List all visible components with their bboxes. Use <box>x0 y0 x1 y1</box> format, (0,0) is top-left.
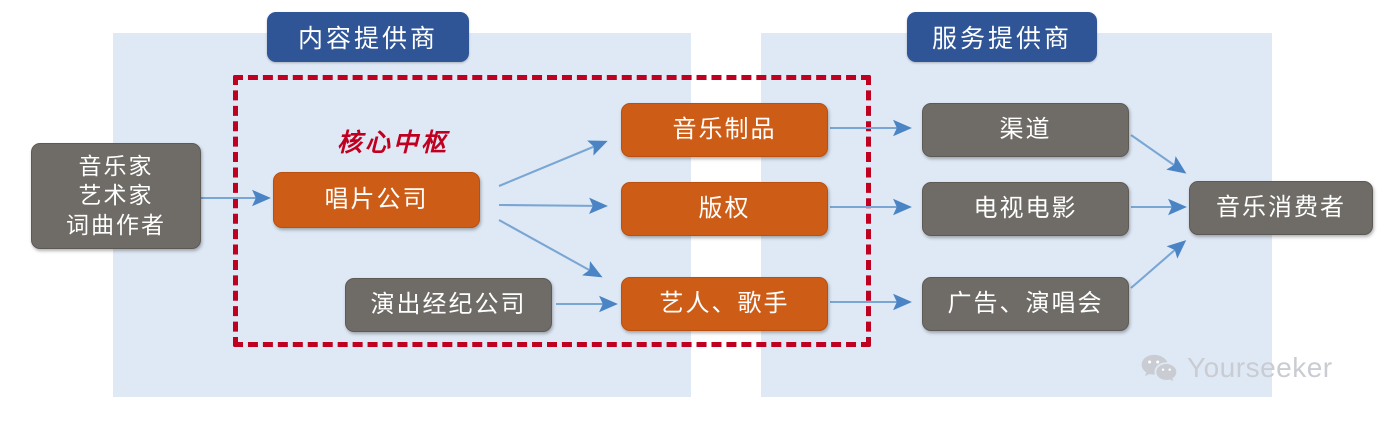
node-music-products-label: 音乐制品 <box>673 115 777 146</box>
header-service-provider: 服务提供商 <box>907 12 1097 62</box>
header-service-provider-label: 服务提供商 <box>932 19 1072 55</box>
node-record-company-label: 唱片公司 <box>325 185 429 216</box>
node-record-company[interactable]: 唱片公司 <box>273 172 480 228</box>
node-agency[interactable]: 演出经纪公司 <box>345 278 552 332</box>
node-creators-line-1: 音乐家 <box>79 152 154 181</box>
node-tv-film-label: 电视电影 <box>974 194 1078 225</box>
node-agency-label: 演出经纪公司 <box>371 290 527 321</box>
node-music-products[interactable]: 音乐制品 <box>621 103 828 157</box>
node-ads-concerts-label: 广告、演唱会 <box>948 289 1104 320</box>
node-artists-singers[interactable]: 艺人、歌手 <box>621 277 828 331</box>
node-copyright[interactable]: 版权 <box>621 182 828 236</box>
node-consumers[interactable]: 音乐消费者 <box>1189 181 1373 235</box>
node-consumers-label: 音乐消费者 <box>1216 193 1346 224</box>
node-creators[interactable]: 音乐家 艺术家 词曲作者 <box>31 143 201 249</box>
diagram-canvas: 内容提供商 服务提供商 核心中枢 <box>0 0 1397 427</box>
node-channel-label: 渠道 <box>1000 115 1052 146</box>
node-copyright-label: 版权 <box>699 194 751 225</box>
header-content-provider-label: 内容提供商 <box>298 19 438 55</box>
wechat-icon <box>1140 353 1178 383</box>
watermark: Yourseeker <box>1140 352 1333 384</box>
node-tv-film[interactable]: 电视电影 <box>922 182 1129 236</box>
node-creators-line-3: 词曲作者 <box>66 211 166 240</box>
node-channel[interactable]: 渠道 <box>922 103 1129 157</box>
node-ads-concerts[interactable]: 广告、演唱会 <box>922 277 1129 331</box>
watermark-text: Yourseeker <box>1187 352 1333 384</box>
header-content-provider: 内容提供商 <box>267 12 469 62</box>
core-hub-label: 核心中枢 <box>337 123 449 159</box>
node-artists-singers-label: 艺人、歌手 <box>660 289 790 320</box>
node-creators-line-2: 艺术家 <box>79 181 154 210</box>
